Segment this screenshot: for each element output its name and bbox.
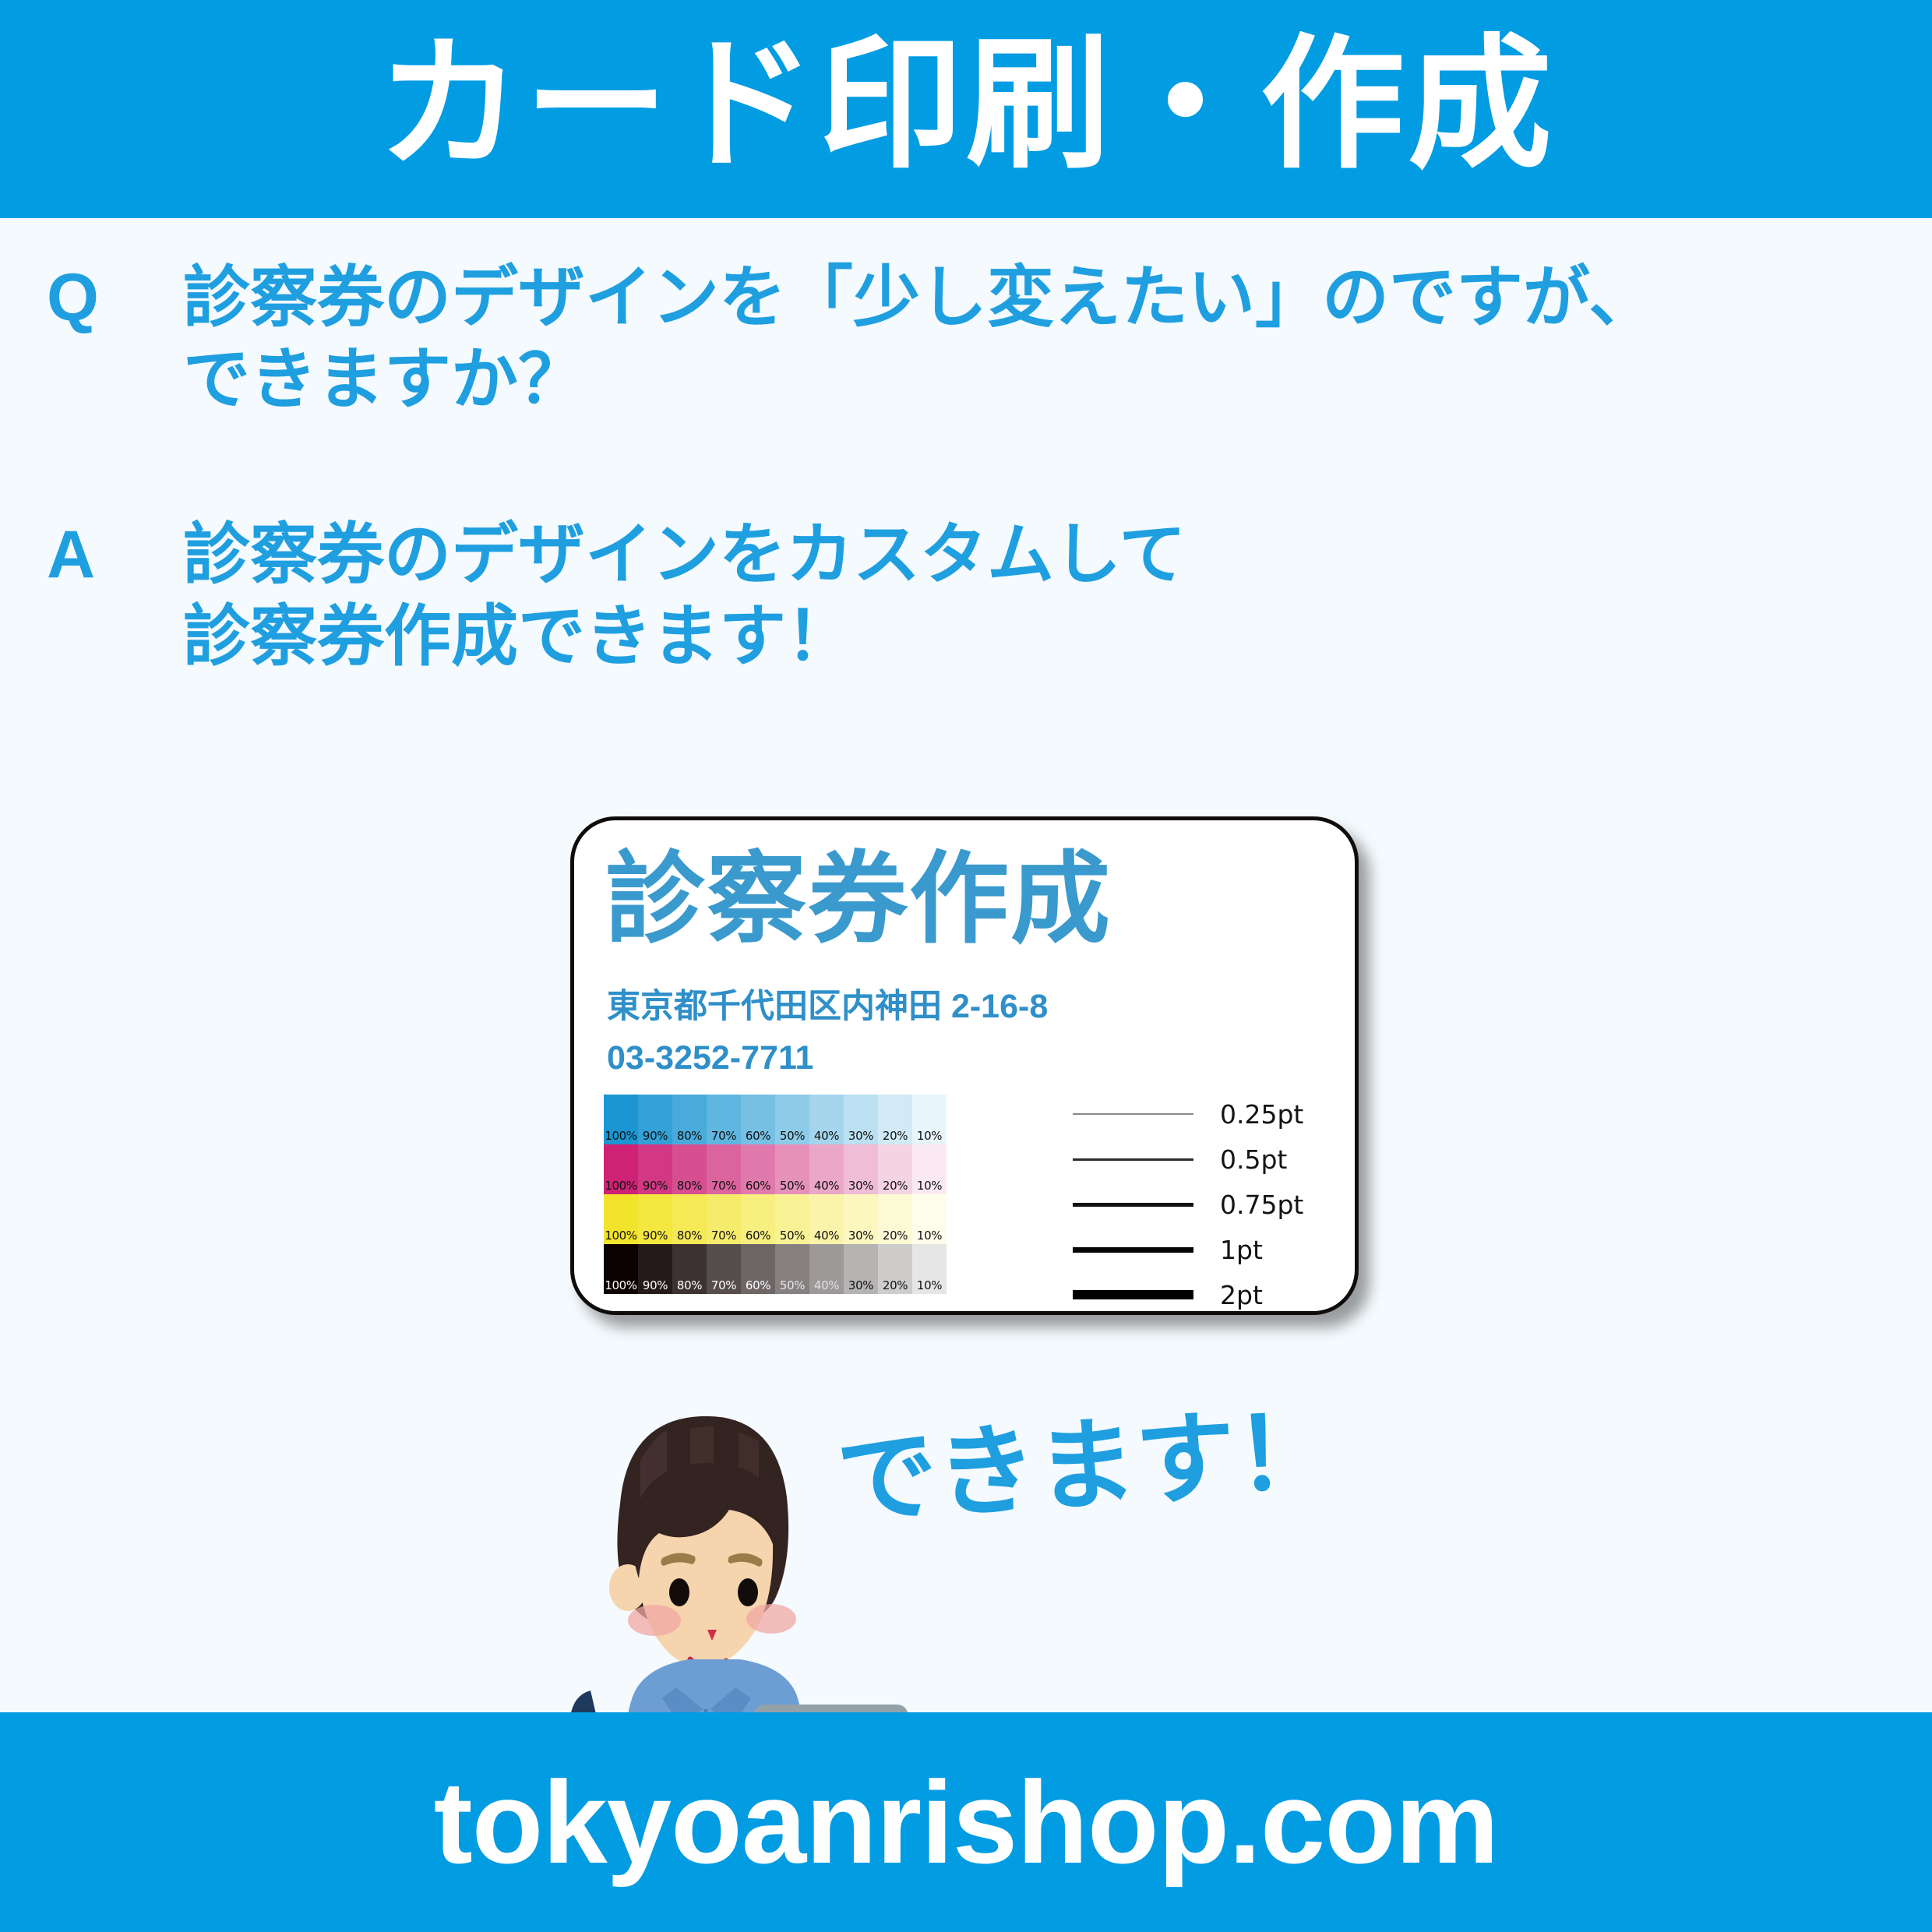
swatch-label: 10% (912, 1180, 947, 1192)
line-sample (1073, 1203, 1193, 1207)
swatch-label: 100% (604, 1230, 638, 1242)
swatch-label: 70% (707, 1130, 741, 1142)
swatch-cell: 40% (809, 1095, 844, 1144)
swatch-label: 60% (741, 1280, 775, 1292)
qa-block: Q 診察券のデザインを「少し変えたい」のですが、 できますか？ A 診察券のデザ… (47, 257, 1901, 678)
cmyk-swatch-chart: 100%90%80%70%60%50%40%30%20%10%100%90%80… (604, 1095, 947, 1294)
line-weight-label: 2pt (1220, 1282, 1263, 1308)
swatch-label: 80% (672, 1180, 707, 1192)
swatch-label: 20% (878, 1130, 912, 1142)
line-sample (1073, 1113, 1193, 1115)
legend-row: 0.5pt (1073, 1137, 1330, 1182)
swatch-cell: 60% (741, 1244, 775, 1294)
swatch-cell: 70% (707, 1244, 741, 1294)
swatch-row-magenta: 100%90%80%70%60%50%40%30%20%10% (604, 1144, 947, 1194)
swatch-cell: 50% (775, 1244, 809, 1294)
website-url: tokyoanrishop.com (434, 1764, 1499, 1881)
line-weight-label: 0.75pt (1220, 1192, 1303, 1218)
legend-row: 1pt (1073, 1227, 1330, 1272)
swatch-label: 100% (604, 1280, 638, 1292)
swatch-label: 30% (844, 1180, 878, 1192)
swatch-label: 50% (775, 1230, 809, 1242)
legend-row: 0.75pt (1073, 1182, 1330, 1227)
swatch-label: 100% (604, 1180, 638, 1192)
swatch-cell: 90% (638, 1244, 672, 1294)
swatch-cell: 10% (912, 1095, 947, 1144)
swatch-label: 60% (741, 1180, 775, 1192)
card-address: 東京都千代田区内神田 2-16-8 (607, 990, 1048, 1024)
swatch-cell: 50% (775, 1095, 809, 1144)
card-title: 診察券作成 (605, 850, 1112, 950)
swatch-label: 40% (809, 1130, 844, 1142)
swatch-cell: 10% (912, 1194, 947, 1244)
question-row: Q 診察券のデザインを「少し変えたい」のですが、 できますか？ (47, 257, 1901, 421)
question-text: 診察券のデザインを「少し変えたい」のですが、 できますか？ (183, 257, 1901, 421)
swatch-label: 90% (638, 1280, 672, 1292)
swatch-cell: 100% (604, 1244, 638, 1294)
swatch-cell: 90% (638, 1095, 672, 1144)
legend-row: 0.25pt (1073, 1091, 1330, 1137)
question-marker: Q (47, 257, 183, 339)
swatch-row-cyan: 100%90%80%70%60%50%40%30%20%10% (604, 1095, 947, 1144)
swatch-row-yellow: 100%90%80%70%60%50%40%30%20%10% (604, 1194, 947, 1244)
swatch-cell: 10% (912, 1244, 947, 1294)
swatch-cell: 80% (672, 1144, 707, 1194)
swatch-label: 50% (775, 1130, 809, 1142)
swatch-label: 100% (604, 1130, 638, 1142)
swatch-label: 30% (844, 1130, 878, 1142)
swatch-cell: 40% (809, 1244, 844, 1294)
line-weight-legend: 0.25pt0.5pt0.75pt1pt2pt (1073, 1091, 1330, 1315)
legend-row: 2pt (1073, 1272, 1330, 1315)
swatch-label: 20% (878, 1280, 912, 1292)
swatch-cell: 30% (844, 1244, 878, 1294)
card-phone: 03-3252-7711 (607, 1042, 813, 1075)
line-weight-label: 1pt (1220, 1237, 1263, 1263)
line-rule (1073, 1158, 1193, 1161)
swatch-cell: 10% (912, 1144, 947, 1194)
swatch-label: 60% (741, 1130, 775, 1142)
swatch-cell: 100% (604, 1144, 638, 1194)
swatch-label: 70% (707, 1230, 741, 1242)
line-sample (1073, 1158, 1193, 1161)
swatch-label: 90% (638, 1130, 672, 1142)
swatch-label: 80% (672, 1280, 707, 1292)
swatch-label: 50% (775, 1180, 809, 1192)
swatch-label: 80% (672, 1230, 707, 1242)
swatch-cell: 40% (809, 1144, 844, 1194)
swatch-cell: 30% (844, 1144, 878, 1194)
page-title: カード印刷・作成 (377, 33, 1555, 178)
swatch-cell: 30% (844, 1194, 878, 1244)
swatch-cell: 70% (707, 1144, 741, 1194)
answer-marker: A (47, 514, 183, 596)
swatch-cell: 50% (775, 1144, 809, 1194)
swatch-cell: 70% (707, 1194, 741, 1244)
swatch-label: 90% (638, 1230, 672, 1242)
swatch-label: 80% (672, 1130, 707, 1142)
header-bar: カード印刷・作成 (0, 0, 1932, 218)
swatch-label: 10% (912, 1230, 947, 1242)
swatch-cell: 70% (707, 1095, 741, 1144)
swatch-cell: 40% (809, 1194, 844, 1244)
swatch-cell: 50% (775, 1194, 809, 1244)
swatch-cell: 80% (672, 1194, 707, 1244)
line-sample (1073, 1247, 1193, 1253)
swatch-cell: 60% (741, 1194, 775, 1244)
swatch-label: 20% (878, 1180, 912, 1192)
footer-bar: tokyoanrishop.com (0, 1712, 1932, 1932)
swatch-label: 70% (707, 1180, 741, 1192)
line-rule (1073, 1290, 1193, 1299)
swatch-cell: 20% (878, 1144, 912, 1194)
line-weight-label: 0.5pt (1220, 1147, 1287, 1172)
answer-text: 診察券のデザインをカスタムして 診察券作成できます！ (183, 514, 1901, 678)
swatch-row-black: 100%90%80%70%60%50%40%30%20%10% (604, 1244, 947, 1294)
swatch-cell: 20% (878, 1244, 912, 1294)
swatch-cell: 60% (741, 1095, 775, 1144)
swatch-label: 40% (809, 1280, 844, 1292)
line-rule (1073, 1247, 1193, 1253)
poster-canvas: カード印刷・作成 Q 診察券のデザインを「少し変えたい」のですが、 できますか？… (0, 0, 1932, 1932)
swatch-cell: 80% (672, 1095, 707, 1144)
line-rule (1073, 1113, 1193, 1115)
patient-card-mockup: 診察券作成 東京都千代田区内神田 2-16-8 03-3252-7711 100… (570, 816, 1359, 1315)
swatch-cell: 100% (604, 1095, 638, 1144)
swatch-cell: 90% (638, 1144, 672, 1194)
swatch-label: 30% (844, 1280, 878, 1292)
swatch-cell: 90% (638, 1194, 672, 1244)
swatch-cell: 20% (878, 1095, 912, 1144)
line-weight-label: 0.25pt (1220, 1102, 1303, 1127)
swatch-label: 90% (638, 1180, 672, 1192)
swatch-cell: 30% (844, 1095, 878, 1144)
line-sample (1073, 1290, 1193, 1299)
swatch-label: 30% (844, 1230, 878, 1242)
line-rule (1073, 1203, 1193, 1207)
swatch-label: 50% (775, 1280, 809, 1292)
swatch-label: 20% (878, 1230, 912, 1242)
swatch-label: 70% (707, 1280, 741, 1292)
swatch-cell: 100% (604, 1194, 638, 1244)
swatch-label: 40% (809, 1180, 844, 1192)
swatch-cell: 80% (672, 1244, 707, 1294)
answer-row: A 診察券のデザインをカスタムして 診察券作成できます！ (47, 514, 1901, 678)
swatch-label: 10% (912, 1280, 947, 1292)
swatch-label: 40% (809, 1230, 844, 1242)
swatch-label: 60% (741, 1230, 775, 1242)
swatch-cell: 20% (878, 1194, 912, 1244)
swatch-label: 10% (912, 1130, 947, 1142)
swatch-cell: 60% (741, 1144, 775, 1194)
